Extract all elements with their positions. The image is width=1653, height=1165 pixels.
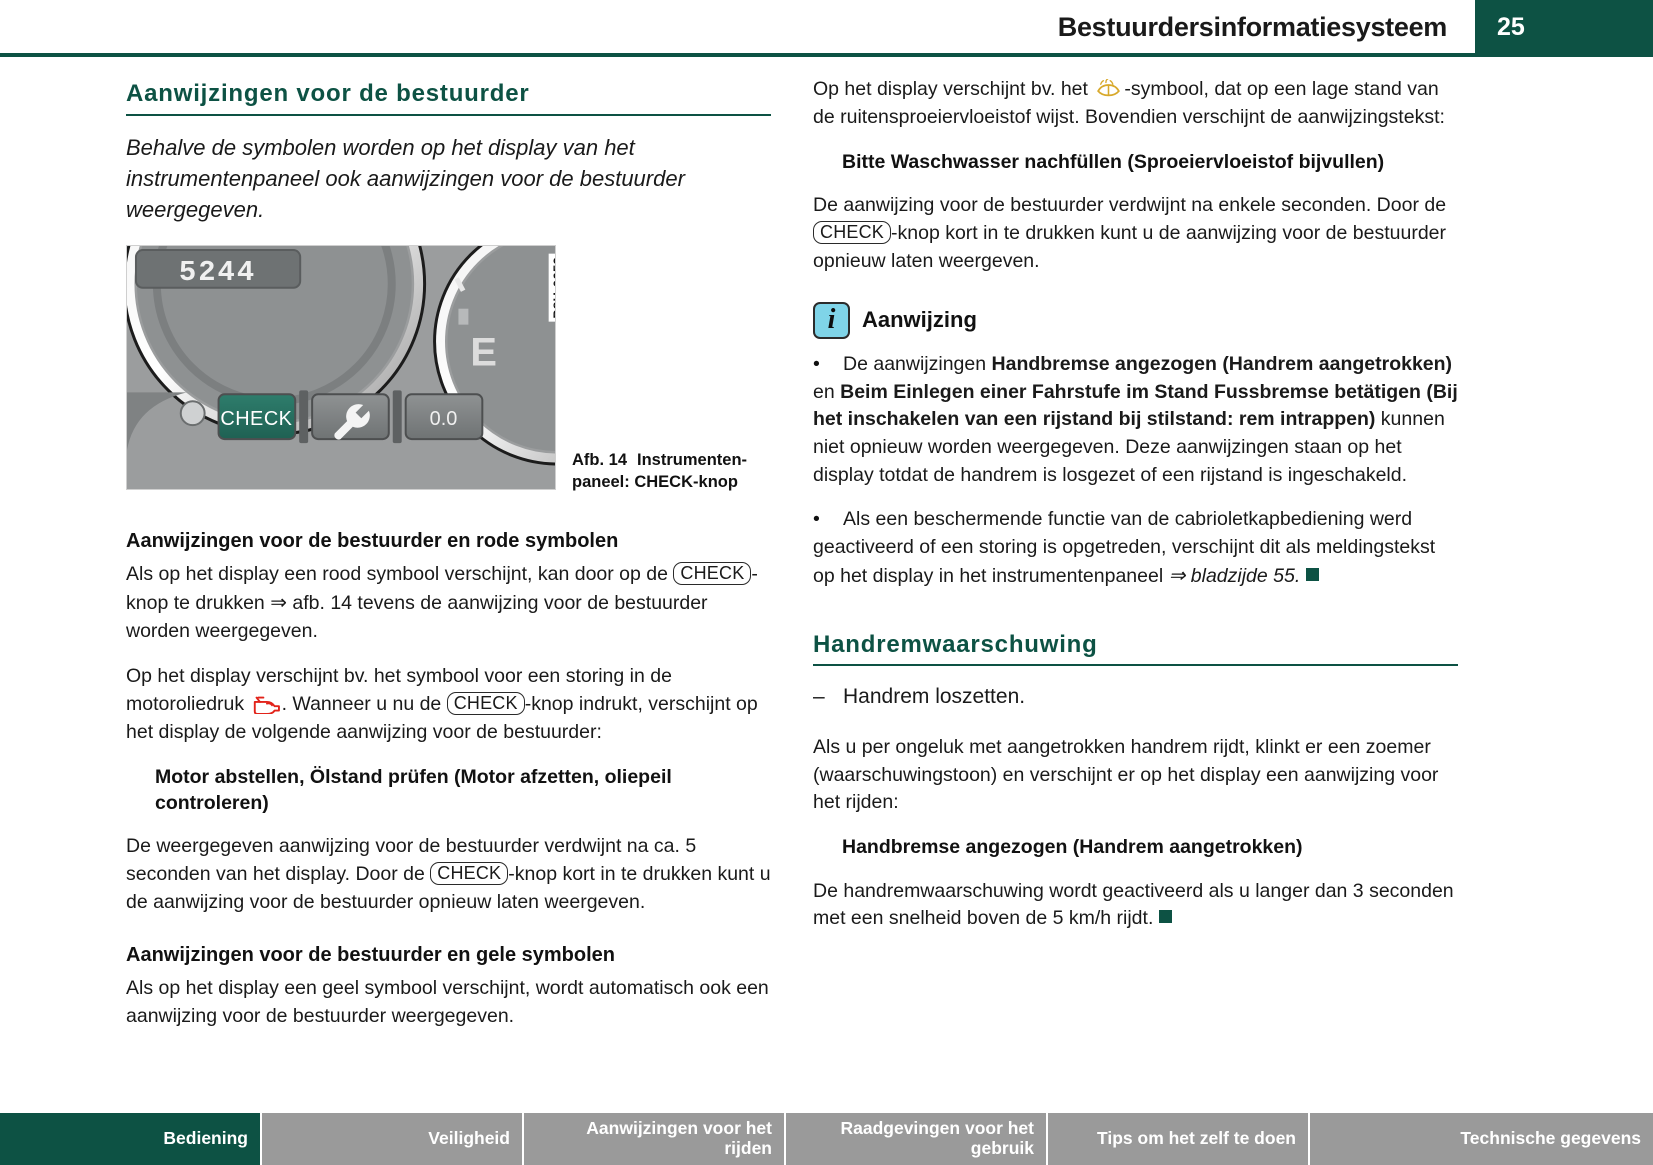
section-heading-driver-info: Aanwijzingen voor de bestuurder: [126, 80, 771, 108]
info-icon: i: [813, 302, 850, 339]
text-fragment: De aanwijzingen: [843, 353, 992, 375]
bullet-icon: •: [813, 351, 843, 379]
instrument-panel-figure: E 5244 CHECK 0.0 B8H-0652: [126, 245, 556, 490]
left-column: Aanwijzingen voor de bestuurder Behalve …: [126, 80, 771, 1048]
dash-icon: –: [813, 682, 843, 711]
section-heading-rule: [813, 664, 1458, 666]
cross-reference-arrow-icon: ⇒: [270, 592, 287, 614]
washer-fluid-warning-icon: [1095, 79, 1122, 98]
figure-caption-number: Afb. 14: [572, 451, 627, 469]
footer-tab-label: Aanwijzingen voor het rijden: [536, 1119, 772, 1158]
figure-caption-line1: Instrumenten-: [637, 451, 747, 469]
section-end-marker: [1306, 568, 1319, 581]
text-fragment: Handrem loszetten.: [843, 685, 1025, 708]
text-fragment: -knop kort in te drukken kunt u de aanwi…: [813, 222, 1446, 272]
footer-tab-label: Raadgevingen voor het gebruik: [798, 1119, 1034, 1158]
figure-image-code: B8H-0652: [549, 254, 556, 322]
footer-tab-technische-gegevens[interactable]: Technische gegevens: [1310, 1113, 1653, 1165]
footer-tab-aanwijzingen-rijden[interactable]: Aanwijzingen voor het rijden: [524, 1113, 786, 1165]
subheading-red-symbols: Aanwijzingen voor de bestuurder en rode …: [126, 529, 771, 554]
figure-block: E 5244 CHECK 0.0 B8H-0652 Afb. 14Instrum…: [126, 245, 771, 503]
note-bullet-2: •Als een beschermende functie van de cab…: [813, 506, 1458, 591]
subheading-yellow-symbols: Aanwijzingen voor de bestuurder en gele …: [126, 943, 771, 968]
note-header: i Aanwijzing: [813, 302, 1458, 339]
header-divider: [0, 53, 1653, 57]
text-fragment: . Wanneer u nu de: [282, 693, 447, 715]
display-message-handbrake-de: Handbremse angezogen (Handrem aangetrokk…: [992, 353, 1453, 375]
page-header: Bestuurdersinformatiesysteem 25: [0, 0, 1653, 57]
oil-pressure-warning-icon: [251, 695, 281, 714]
paragraph-red-2: Op het display verschijnt bv. het symboo…: [126, 663, 771, 747]
text-fragment: en: [813, 381, 840, 403]
paragraph-red-3: De weergegeven aanwijzing voor de bestuu…: [126, 833, 771, 917]
bullet-icon: •: [813, 506, 843, 534]
figure-caption: Afb. 14Instrumenten- paneel: CHECK-knop: [572, 450, 772, 494]
section-heading-rule: [126, 114, 771, 116]
page-number-box: 25: [1475, 0, 1653, 57]
text-fragment: De aanwijzing voor de bestuurder verdwij…: [813, 194, 1446, 216]
instrument-panel-illustration: E: [127, 246, 555, 490]
section-end-marker: [1159, 910, 1172, 923]
check-keycap: CHECK: [673, 562, 751, 585]
text-fragment: De handremwaarschuwing wordt geactiveerd…: [813, 880, 1454, 930]
intro-paragraph: Behalve de symbolen worden op het displa…: [126, 132, 771, 226]
paragraph-washer-1: Op het display verschijnt bv. het -symbo…: [813, 76, 1458, 132]
footer-tab-label: Technische gegevens: [1460, 1129, 1641, 1149]
action-step-release-handbrake: –Handrem loszetten.: [813, 682, 1458, 711]
paragraph-washer-2: De aanwijzing voor de bestuurder verdwij…: [813, 192, 1458, 276]
note-title: Aanwijzing: [862, 307, 977, 333]
footer-tab-raadgevingen-gebruik[interactable]: Raadgevingen voor het gebruik: [786, 1113, 1048, 1165]
figure-caption-line2: paneel: CHECK-knop: [572, 473, 738, 491]
display-message-washer: Bitte Waschwasser nachfüllen (Sproeiervl…: [813, 149, 1458, 175]
paragraph-red-1: Als op het display een rood symbool vers…: [126, 561, 771, 646]
footer-tab-bar: Bediening Veiligheid Aanwijzingen voor h…: [0, 1113, 1653, 1165]
text-fragment: Als een beschermende functie van de cabr…: [813, 508, 1435, 587]
paragraph-yellow-1: Als op het display een geel symbool vers…: [126, 975, 771, 1031]
note-bullet-1: •De aanwijzingen Handbremse angezogen (H…: [813, 351, 1458, 490]
footer-tab-label: Bediening: [163, 1129, 248, 1149]
section-heading-handbrake: Handremwaarschuwing: [813, 631, 1458, 659]
footer-tab-label: Veiligheid: [428, 1129, 510, 1149]
right-column: Op het display verschijnt bv. het -symbo…: [813, 80, 1458, 950]
check-keycap: CHECK: [813, 221, 891, 244]
page-title: Bestuurdersinformatiesysteem: [1058, 12, 1447, 43]
svg-text:E: E: [470, 331, 497, 375]
footer-tab-label: Tips om het zelf te doen: [1097, 1129, 1296, 1149]
display-message-oil: Motor abstellen, Ölstand prüfen (Motor a…: [126, 764, 771, 817]
text-fragment: Op het display verschijnt bv. het: [813, 78, 1093, 100]
paragraph-handbrake-1: Als u per ongeluk met aangetrokken handr…: [813, 734, 1458, 818]
check-keycap: CHECK: [447, 692, 525, 715]
cross-reference-arrow-icon: ⇒: [1169, 565, 1186, 587]
footer-tab-tips-zelf-doen[interactable]: Tips om het zelf te doen: [1048, 1113, 1310, 1165]
display-message-gearstand: Beim Einlegen einer Fahrstufe im Stand F…: [813, 381, 1458, 431]
check-keycap: CHECK: [430, 862, 508, 885]
page-number: 25: [1497, 13, 1525, 42]
display-message-handbrake: Handbremse angezogen (Handrem aangetrokk…: [813, 834, 1458, 860]
paragraph-handbrake-2: De handremwaarschuwing wordt geactiveerd…: [813, 878, 1458, 934]
cross-reference-page[interactable]: bladzijde 55.: [1185, 565, 1300, 587]
footer-tab-veiligheid[interactable]: Veiligheid: [262, 1113, 524, 1165]
text-fragment: Als op het display een rood symbool vers…: [126, 563, 673, 585]
footer-tab-bediening[interactable]: Bediening: [0, 1113, 262, 1165]
